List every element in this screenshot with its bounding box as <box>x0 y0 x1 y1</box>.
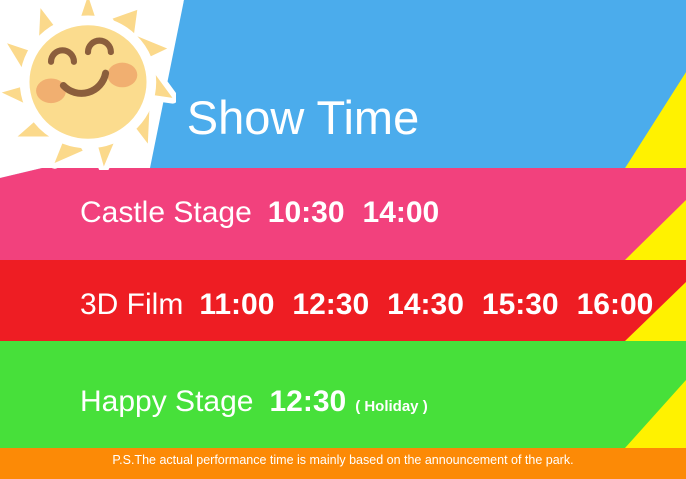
time-chip: 12:30 <box>292 288 369 322</box>
time-chip: 15:30 <box>482 288 559 322</box>
page-title: Show Time <box>0 92 686 144</box>
schedule-name-castle-stage: Castle Stage <box>80 196 252 230</box>
schedule-times-3d-film: 11:00 12:30 14:30 15:30 16:00 <box>199 288 653 322</box>
schedule-name-3d-film: 3D Film <box>80 288 183 322</box>
time-chip: 14:00 <box>363 196 440 230</box>
show-time-poster: Show Time Castle Stage 10:30 14:00 3D Fi… <box>0 0 686 479</box>
schedule-name-happy-stage: Happy Stage <box>80 385 253 419</box>
schedule-note-happy-stage: ( Holiday ) <box>355 398 428 415</box>
sun-cheek-right <box>107 63 137 88</box>
schedule-times-happy-stage: 12:30 <box>269 385 346 419</box>
time-chip: 14:30 <box>387 288 464 322</box>
time-chip: 12:30 <box>269 385 346 419</box>
time-chip: 10:30 <box>268 196 345 230</box>
schedule-row-3d-film: 3D Film 11:00 12:30 14:30 15:30 16:00 <box>80 288 653 322</box>
time-chip: 11:00 <box>199 288 274 322</box>
schedule-row-happy-stage: Happy Stage 12:30 ( Holiday ) <box>80 385 428 419</box>
schedule-row-castle-stage: Castle Stage 10:30 14:00 <box>80 196 439 230</box>
schedule-times-castle-stage: 10:30 14:00 <box>268 196 439 230</box>
smiling-sun-icon <box>0 0 176 170</box>
time-chip: 16:00 <box>577 288 654 322</box>
footer-disclaimer: P.S.The actual performance time is mainl… <box>0 453 686 467</box>
